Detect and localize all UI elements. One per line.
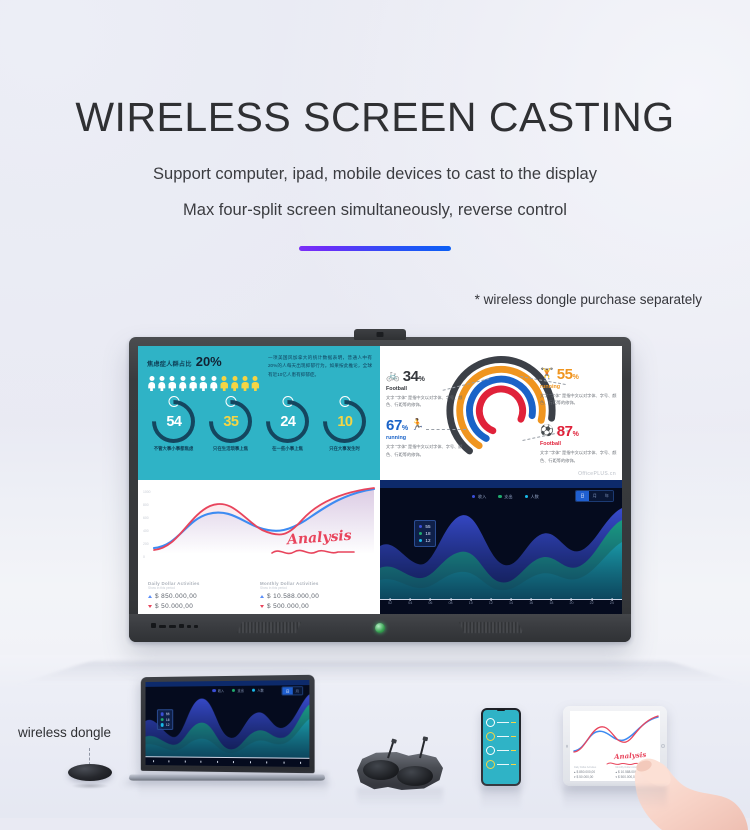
x-tick: 08 (449, 601, 453, 605)
laptop-tooltip: 55 18 12 (157, 709, 173, 730)
legend-up-value: $ 850.000,00 (155, 593, 197, 600)
donut-stat: 35 只在生活琐事上焦 (206, 400, 255, 452)
speaker-grille-right (459, 622, 523, 633)
donut-value: 24 (280, 414, 295, 430)
watermark: OfficePLUS.cn (578, 471, 616, 477)
port-icon (159, 625, 166, 628)
display-bottom-bezel (129, 614, 631, 642)
donut-row: 54 不管大事小事都焦虑 35 只在生活琐事上焦 24 在一些小事 (147, 400, 371, 452)
arrow-up-icon (260, 595, 264, 598)
runner-icon: 🏃 (411, 420, 425, 431)
subtitle-line-2: Max four-split screen simultaneously, re… (0, 201, 750, 220)
laptop-device: 收入 支出 人数 日 月 55 18 12 (138, 676, 318, 782)
person-icon (178, 376, 187, 391)
legend-subtitle: Show in this period (260, 586, 370, 590)
stat-running-55: 🏋 55% running 文字 "字体" 是指中文以对字体、字号、颜色、行距等… (540, 366, 618, 407)
stat-body: 文字 "字体" 是指中文以对字体、字号、颜色、行距等的修饰。 (386, 394, 464, 409)
line-chart-legend: Daily Dollar Activities Show in this per… (138, 581, 380, 611)
stat-football-34: 🚲 34% Football 文字 "字体" 是指中文以对字体、字号、颜色、行距… (386, 368, 464, 409)
teal-title: 焦虑症人群占比 (147, 359, 192, 368)
tooltip-row: 18 (419, 531, 431, 536)
stat-label: Football (540, 441, 618, 447)
wireless-dongle-puck (68, 764, 112, 781)
arrow-down-icon (148, 605, 152, 608)
interactive-flat-panel-display: 焦虑症人群占比 20% 一项美国风加拿大的统计数据表明，普通人中有20%的人每天… (129, 337, 631, 642)
stat-value: 55% (557, 366, 579, 383)
x-tick: 06 (428, 601, 432, 605)
person-icon-highlight (220, 376, 229, 391)
legend-title: Daily Dollar Activities (148, 581, 258, 586)
header: WIRELESS SCREEN CASTING Support computer… (0, 96, 750, 251)
soccer-ball-icon: ⚽ (540, 426, 554, 437)
donut-ring: 10 (314, 391, 375, 452)
power-button[interactable] (375, 623, 385, 633)
port-icon (151, 623, 156, 628)
tooltip-row: 55 (419, 524, 431, 529)
donut-ring: 35 (200, 391, 261, 452)
legend-down-value: $ 50.000,00 (155, 603, 193, 610)
donut-ring: 24 (257, 391, 318, 452)
tooltip-dot-icon (419, 539, 422, 542)
phone-reflection (481, 786, 521, 810)
arrow-up-icon (148, 595, 152, 598)
stat-body: 文字 "字体" 是指中文以对字体、字号、颜色、行距等的修饰。 (540, 449, 618, 464)
stat-running-67: 67% 🏃 running 文字 "字体" 是指中文以对字体、字号、颜色、行距等… (386, 417, 464, 458)
speaker-grille-left (237, 622, 301, 633)
quadrant-analysis-line-chart: 10008006004002000 Analysis (138, 480, 380, 614)
tablet-camera-icon (566, 745, 569, 748)
x-tick: 16 (529, 601, 533, 605)
legend-group-monthly: Monthly Dollar Activities Show in this p… (260, 581, 370, 611)
pointing-hand (628, 735, 748, 830)
cradle-reflection (357, 788, 443, 806)
x-tick: 12 (489, 601, 493, 605)
x-tick: 14 (509, 601, 513, 605)
accent-divider (299, 246, 451, 251)
dongle-in-cradle (363, 760, 399, 780)
legend-up-row: $ 10.588.000,00 (260, 593, 370, 600)
script-underline-squiggle (270, 546, 356, 558)
phone-screen (483, 710, 519, 784)
person-icon-highlight (241, 376, 250, 391)
port-icon (169, 625, 176, 628)
legend-down-value: $ 500.000,00 (267, 603, 309, 610)
person-icon (199, 376, 208, 391)
stat-football-87: ⚽ 87% Football 文字 "字体" 是指中文以对字体、字号、颜色、行距… (540, 423, 618, 464)
donut-value: 54 (166, 414, 181, 430)
donut-stat: 10 只在大事发生时 (320, 400, 369, 452)
tooltip-dot-icon (419, 532, 422, 535)
legend-up-value: $ 10.588.000,00 (267, 593, 319, 600)
x-tick: 20 (569, 601, 573, 605)
donut-value: 35 (223, 414, 238, 430)
laptop-reflection (138, 772, 328, 798)
dongle-charging-cradle (357, 752, 443, 790)
person-icon (189, 376, 198, 391)
x-tick: 24 (610, 601, 614, 605)
laptop-x-axis (146, 756, 310, 767)
stat-body: 文字 "字体" 是指中文以对字体、字号、颜色、行距等的修饰。 (386, 443, 464, 458)
stat-body: 文字 "字体" 是指中文以对字体、字号、颜色、行距等的修饰。 (540, 392, 618, 407)
legend-up-row: $ 850.000,00 (148, 593, 258, 600)
port-icon (187, 625, 191, 628)
dongle-annotation-label: wireless dongle (18, 725, 111, 740)
person-icon-highlight (251, 376, 260, 391)
stat-value: 34% (403, 368, 425, 385)
chart-tooltip: 55 18 12 (414, 520, 436, 547)
legend-group-daily: Daily Dollar Activities Show in this per… (148, 581, 258, 611)
tooltip-row: 12 (419, 538, 431, 543)
stat-value: 87% (557, 423, 579, 440)
camera-icon (354, 329, 406, 340)
x-tick: 04 (408, 601, 412, 605)
tablet-reflection (563, 786, 667, 810)
person-icon (157, 376, 166, 391)
dumbbell-icon: 🏋 (540, 369, 554, 380)
laptop-lid: 收入 支出 人数 日 月 55 18 12 (141, 675, 315, 774)
mobile-phone-device (481, 708, 521, 786)
x-tick: 02 (388, 601, 392, 605)
quadrant-dark-dashboard: 收入 支出 人数 日 月 年 (380, 480, 622, 614)
stat-label: Football (386, 386, 464, 392)
port-icon (194, 625, 198, 628)
display-screen-four-split: 焦虑症人群占比 20% 一项美国风加拿大的统计数据表明，普通人中有20%的人每天… (138, 346, 622, 614)
stat-value: 67% (386, 417, 408, 434)
donut-caption: 在一些小事上焦 (263, 446, 312, 452)
stat-label: running (540, 384, 618, 390)
x-tick: 18 (549, 601, 553, 605)
dongle-in-cradle (397, 766, 433, 786)
x-tick: 22 (590, 601, 594, 605)
tooltip-dot-icon (419, 525, 422, 528)
donut-stat: 24 在一些小事上焦 (263, 400, 312, 452)
legend-subtitle: Show in this period (148, 586, 258, 590)
dashboard-title-bar (380, 480, 622, 488)
dashboard-x-axis: 02 04 06 08 10 12 14 16 18 20 22 24 (380, 599, 622, 614)
person-icon (147, 376, 156, 391)
port-cluster (151, 623, 198, 628)
legend-down-row: $ 50.000,00 (148, 603, 258, 610)
port-icon (179, 624, 184, 628)
laptop-screen: 收入 支出 人数 日 月 55 18 12 (146, 680, 310, 767)
legend-title: Monthly Dollar Activities (260, 581, 370, 586)
donut-caption: 只在生活琐事上焦 (206, 446, 255, 452)
teal-title-value: 20% (196, 354, 222, 369)
phone-infographic (486, 718, 516, 769)
footnote-dongle-purchase: * wireless dongle purchase separately (475, 292, 702, 307)
donut-caption: 不管大事小事都焦虑 (149, 446, 198, 452)
person-icon (168, 376, 177, 391)
page-title: WIRELESS SCREEN CASTING (0, 96, 750, 139)
arrow-down-icon (260, 605, 264, 608)
x-tick: 10 (469, 601, 473, 605)
phone-notch (497, 709, 505, 711)
donut-stat: 54 不管大事小事都焦虑 (149, 400, 198, 452)
donut-value: 10 (337, 414, 352, 430)
quadrant-radial-chart: 🚲 34% Football 文字 "字体" 是指中文以对字体、字号、颜色、行距… (380, 346, 622, 480)
stat-label: running (386, 435, 464, 441)
quadrant-teal-infographic: 焦虑症人群占比 20% 一项美国风加拿大的统计数据表明，普通人中有20%的人每天… (138, 346, 380, 480)
donut-caption: 只在大事发生时 (320, 446, 369, 452)
legend-down-row: $ 500.000,00 (260, 603, 370, 610)
person-icon (209, 376, 218, 391)
teal-paragraph: 一项美国风加拿大的统计数据表明，普通人中有20%的人每天出现抑郁行为。如果按此推… (268, 354, 372, 379)
person-icon-highlight (230, 376, 239, 391)
bicycle-icon: 🚲 (386, 371, 400, 382)
subtitle-line-1: Support computer, ipad, mobile devices t… (0, 165, 750, 184)
donut-ring: 54 (143, 391, 204, 452)
